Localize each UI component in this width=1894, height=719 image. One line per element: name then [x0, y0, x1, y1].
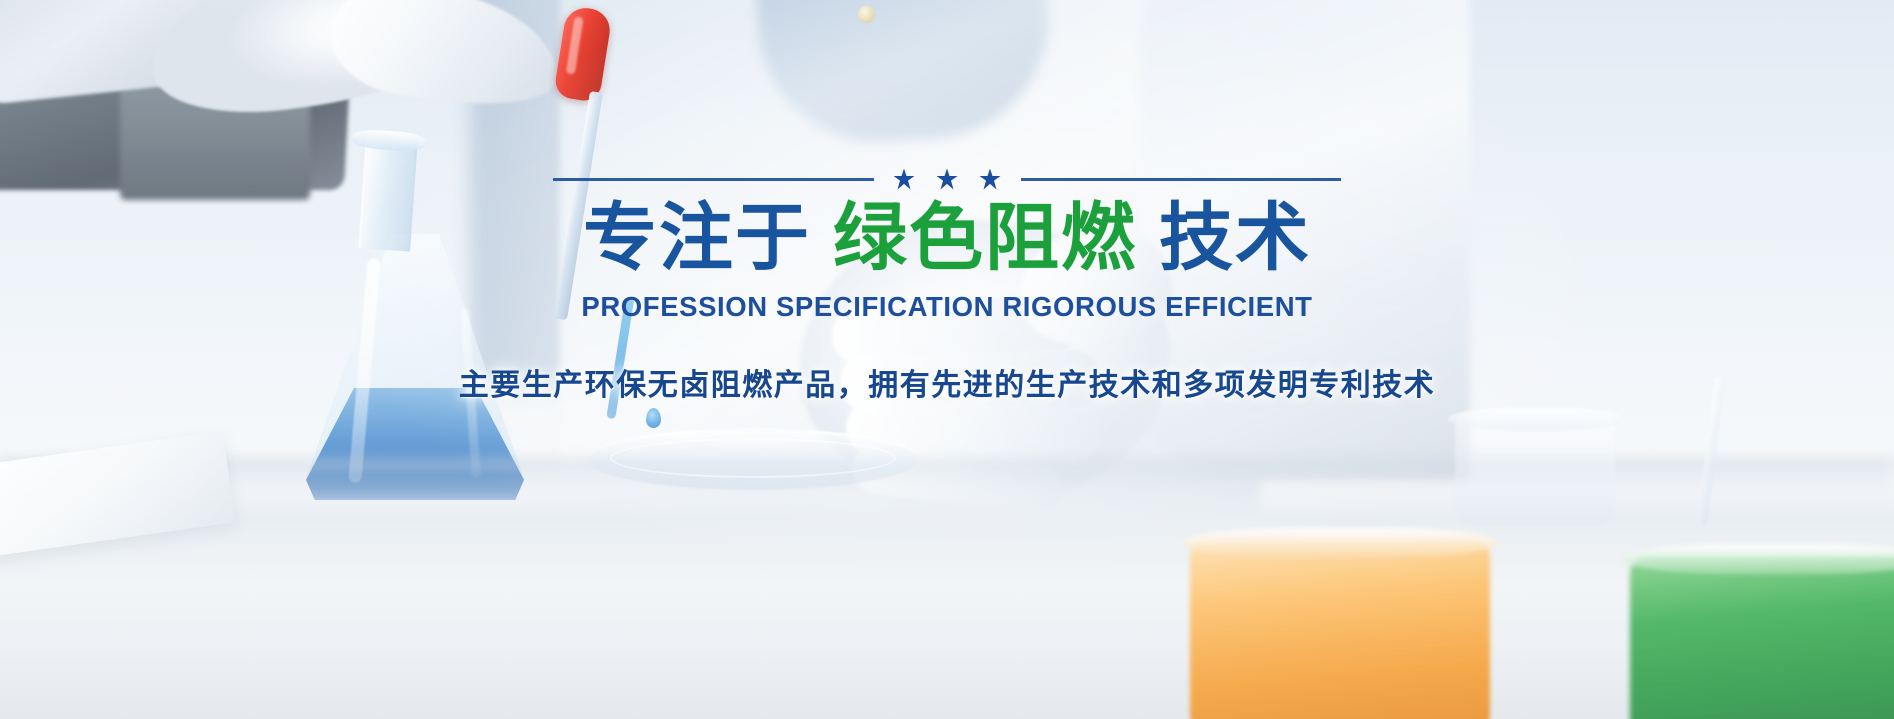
- headline-part-3: 技术: [1159, 200, 1311, 275]
- star-icon: [894, 169, 915, 190]
- petri-dish-rim: [610, 438, 896, 478]
- headline: 专注于 绿色阻燃 技术: [583, 200, 1311, 275]
- green-beaker-icon: [1630, 556, 1894, 719]
- divider: [553, 168, 1341, 190]
- banner-content: 专注于 绿色阻燃 技术 PROFESSION SPECIFICATION RIG…: [0, 168, 1894, 404]
- description: 主要生产环保无卤阻燃产品，拥有先进的生产技术和多项发明专利技术: [459, 360, 1436, 404]
- star-icon: [937, 169, 958, 190]
- divider-rule-right: [1021, 178, 1342, 181]
- headline-part-2: 绿色阻燃: [833, 200, 1137, 275]
- lab-coat-button: [858, 6, 875, 23]
- hero-banner: 专注于 绿色阻燃 技术 PROFESSION SPECIFICATION RIG…: [0, 0, 1894, 719]
- divider-rule-left: [553, 178, 874, 181]
- liquid-drop-icon: [646, 408, 661, 428]
- orange-beaker-rim: [1182, 528, 1498, 558]
- clear-beaker-rim: [1448, 408, 1624, 430]
- green-beaker-rim: [1622, 544, 1894, 574]
- headline-part-1: 专注于: [583, 200, 811, 275]
- clear-beaker-icon: [1455, 416, 1615, 526]
- divider-stars: [874, 169, 1021, 190]
- subtitle: PROFESSION SPECIFICATION RIGOROUS EFFICI…: [581, 291, 1312, 323]
- star-icon: [980, 169, 1001, 190]
- orange-beaker-icon: [1190, 540, 1490, 719]
